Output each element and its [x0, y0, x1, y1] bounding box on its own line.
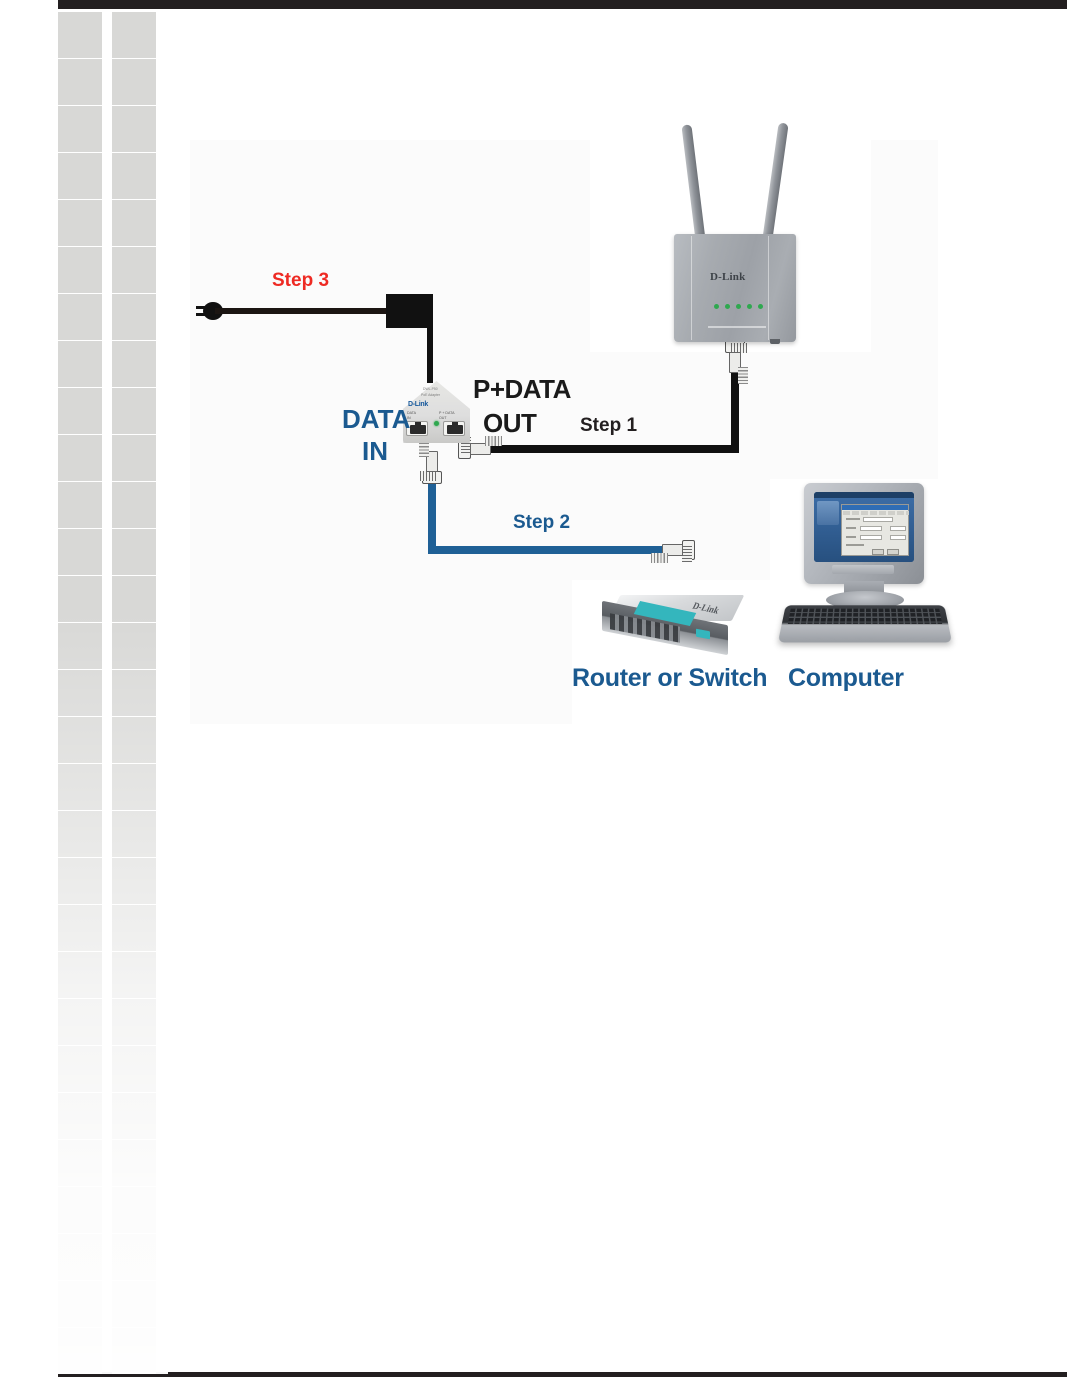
- rj45-connector-icon: [419, 450, 445, 484]
- sidebar-square: [58, 764, 102, 810]
- sidebar-square-column-right: [112, 12, 156, 1374]
- power-adapter-brick: [386, 294, 433, 328]
- sidebar-square: [58, 858, 102, 904]
- sidebar-square: [112, 153, 156, 199]
- sidebar-square: [112, 1140, 156, 1186]
- port-slot: [410, 425, 426, 434]
- sidebar-square: [58, 247, 102, 293]
- rj45-ridge: [651, 553, 668, 563]
- sidebar-square: [112, 858, 156, 904]
- page-bottom-rule: [58, 1372, 1067, 1377]
- dialog-input: [890, 535, 906, 540]
- antenna-right: [762, 122, 789, 242]
- dialog-input: [863, 517, 893, 522]
- sidebar-square: [112, 200, 156, 246]
- sidebar-square: [112, 1187, 156, 1233]
- access-point-brand-logo: D-Link: [710, 271, 745, 283]
- poe-injector: DWL-P50 PoE Adapter D-Link DATA IN P + D…: [403, 381, 470, 443]
- access-point-vent: [708, 326, 766, 328]
- monitor-control-panel: [832, 565, 894, 574]
- label-data-in: DATA IN: [342, 404, 408, 467]
- sidebar-square: [112, 1328, 156, 1374]
- sidebar-square: [112, 106, 156, 152]
- poe-installation-diagram: D-Link DWL-P50 PoE Adapter D-Link DATA I…: [190, 140, 938, 724]
- sidebar-square: [58, 811, 102, 857]
- sidebar-square: [112, 247, 156, 293]
- sidebar-square: [58, 999, 102, 1045]
- access-point-led-row: [714, 304, 766, 310]
- sidebar-square: [112, 811, 156, 857]
- port-slot: [447, 425, 463, 434]
- access-point-foot: [770, 339, 780, 344]
- poe-injector-subtitle-text: PoE Adapter: [421, 393, 440, 397]
- led-indicator: [714, 304, 719, 309]
- label-router-or-switch: Router or Switch: [572, 664, 767, 693]
- sidebar-square: [58, 294, 102, 340]
- sidebar-square: [58, 529, 102, 575]
- out-label-line1: P + DATA: [439, 411, 454, 416]
- dialog-label: [846, 518, 860, 520]
- led-indicator: [725, 304, 730, 309]
- page-top-rule: [58, 0, 1067, 9]
- sidebar-square: [112, 294, 156, 340]
- sidebar-square: [112, 576, 156, 622]
- router-or-switch-device: D-Link: [600, 593, 746, 655]
- sidebar-square: [58, 59, 102, 105]
- sidebar-square: [58, 1046, 102, 1092]
- sidebar-square: [112, 623, 156, 669]
- dialog-label: [846, 536, 856, 538]
- led-indicator: [736, 304, 741, 309]
- sidebar-square: [112, 1234, 156, 1280]
- sidebar-square: [58, 388, 102, 434]
- document-page: D-Link DWL-P50 PoE Adapter D-Link DATA I…: [0, 0, 1067, 1394]
- sidebar-square: [58, 200, 102, 246]
- label-step-3: Step 3: [272, 270, 329, 292]
- keyboard-keys: [788, 609, 942, 624]
- rj45-tab: [426, 451, 438, 472]
- step2-cable-horizontal: [428, 546, 676, 554]
- sidebar-square: [112, 717, 156, 763]
- power-cord-dc-lead: [427, 311, 433, 383]
- sidebar-square: [112, 59, 156, 105]
- sidebar-square: [112, 1093, 156, 1139]
- sidebar-square: [112, 764, 156, 810]
- label-step-2: Step 2: [513, 512, 570, 534]
- sidebar-square: [58, 952, 102, 998]
- rj45-pins: [683, 546, 693, 562]
- antenna-left: [681, 124, 706, 244]
- dialog-input: [890, 526, 906, 531]
- dialog-input: [860, 526, 882, 531]
- sidebar-square: [112, 952, 156, 998]
- label-step-1: Step 1: [580, 415, 637, 437]
- sidebar-square: [112, 905, 156, 951]
- sidebar-square: [58, 717, 102, 763]
- sidebar-square: [58, 341, 102, 387]
- led-indicator: [758, 304, 763, 309]
- keyboard: [778, 605, 952, 642]
- poe-injector-out-port-label: P + DATA OUT: [439, 411, 454, 420]
- step1-cable-horizontal: [490, 445, 739, 453]
- access-point-seam: [768, 236, 769, 340]
- sidebar-square: [58, 1093, 102, 1139]
- wireless-access-point: D-Link: [658, 126, 818, 356]
- sidebar-square: [58, 1328, 102, 1374]
- sidebar-square: [112, 435, 156, 481]
- sidebar-square: [112, 482, 156, 528]
- screen-dialog-window: [841, 504, 909, 556]
- sidebar-square: [58, 1140, 102, 1186]
- out-label-line2: OUT: [439, 416, 454, 421]
- access-point-seam: [691, 236, 692, 340]
- sidebar-square: [58, 623, 102, 669]
- rj45-body: [422, 471, 442, 484]
- sidebar-square: [112, 670, 156, 716]
- rj45-pins: [420, 472, 436, 482]
- monitor-screen: [814, 492, 914, 562]
- sidebar-square: [112, 999, 156, 1045]
- sidebar-square: [58, 1234, 102, 1280]
- screen-desktop-icons: [817, 501, 839, 525]
- sidebar-square: [112, 1046, 156, 1092]
- sidebar-square: [58, 106, 102, 152]
- poe-injector-model-text: DWL-P50: [423, 387, 438, 391]
- sidebar-square: [112, 388, 156, 434]
- label-computer: Computer: [788, 664, 904, 693]
- label-pdata-out-line1: P+DATA: [473, 374, 571, 405]
- poe-injector-power-led: [434, 421, 439, 426]
- sidebar-square: [58, 1187, 102, 1233]
- sidebar-square: [112, 529, 156, 575]
- label-pdata-out-line2: OUT: [483, 408, 536, 439]
- sidebar-square: [58, 12, 102, 58]
- sidebar-decoration: [58, 12, 168, 1374]
- rj45-tab: [470, 443, 491, 455]
- dialog-tabs: [843, 511, 909, 515]
- sidebar-square: [112, 341, 156, 387]
- desktop-computer: [782, 483, 948, 651]
- rj45-body: [682, 540, 695, 560]
- sidebar-square: [58, 153, 102, 199]
- sidebar-square: [58, 576, 102, 622]
- step1-cable-vertical: [731, 372, 739, 453]
- sidebar-square: [58, 905, 102, 951]
- poe-injector-data-out-port: [443, 421, 465, 436]
- dialog-titlebar: [842, 505, 908, 510]
- dialog-input: [860, 535, 882, 540]
- dialog-label: [846, 527, 856, 529]
- rj45-connector-icon: [661, 537, 695, 563]
- sidebar-square: [58, 670, 102, 716]
- sidebar-square: [112, 1281, 156, 1327]
- led-indicator: [747, 304, 752, 309]
- screen-titlebar: [814, 492, 914, 498]
- sidebar-square: [58, 435, 102, 481]
- sidebar-square: [58, 1281, 102, 1327]
- dialog-button: [887, 549, 899, 555]
- dialog-label: [846, 544, 864, 546]
- rj45-tab: [662, 544, 683, 556]
- sidebar-square: [112, 12, 156, 58]
- poe-injector-brand-logo: D-Link: [408, 401, 428, 408]
- dialog-button: [872, 549, 884, 555]
- sidebar-square-column-left: [58, 12, 102, 1374]
- sidebar-square: [58, 482, 102, 528]
- rj45-ridge: [738, 367, 748, 384]
